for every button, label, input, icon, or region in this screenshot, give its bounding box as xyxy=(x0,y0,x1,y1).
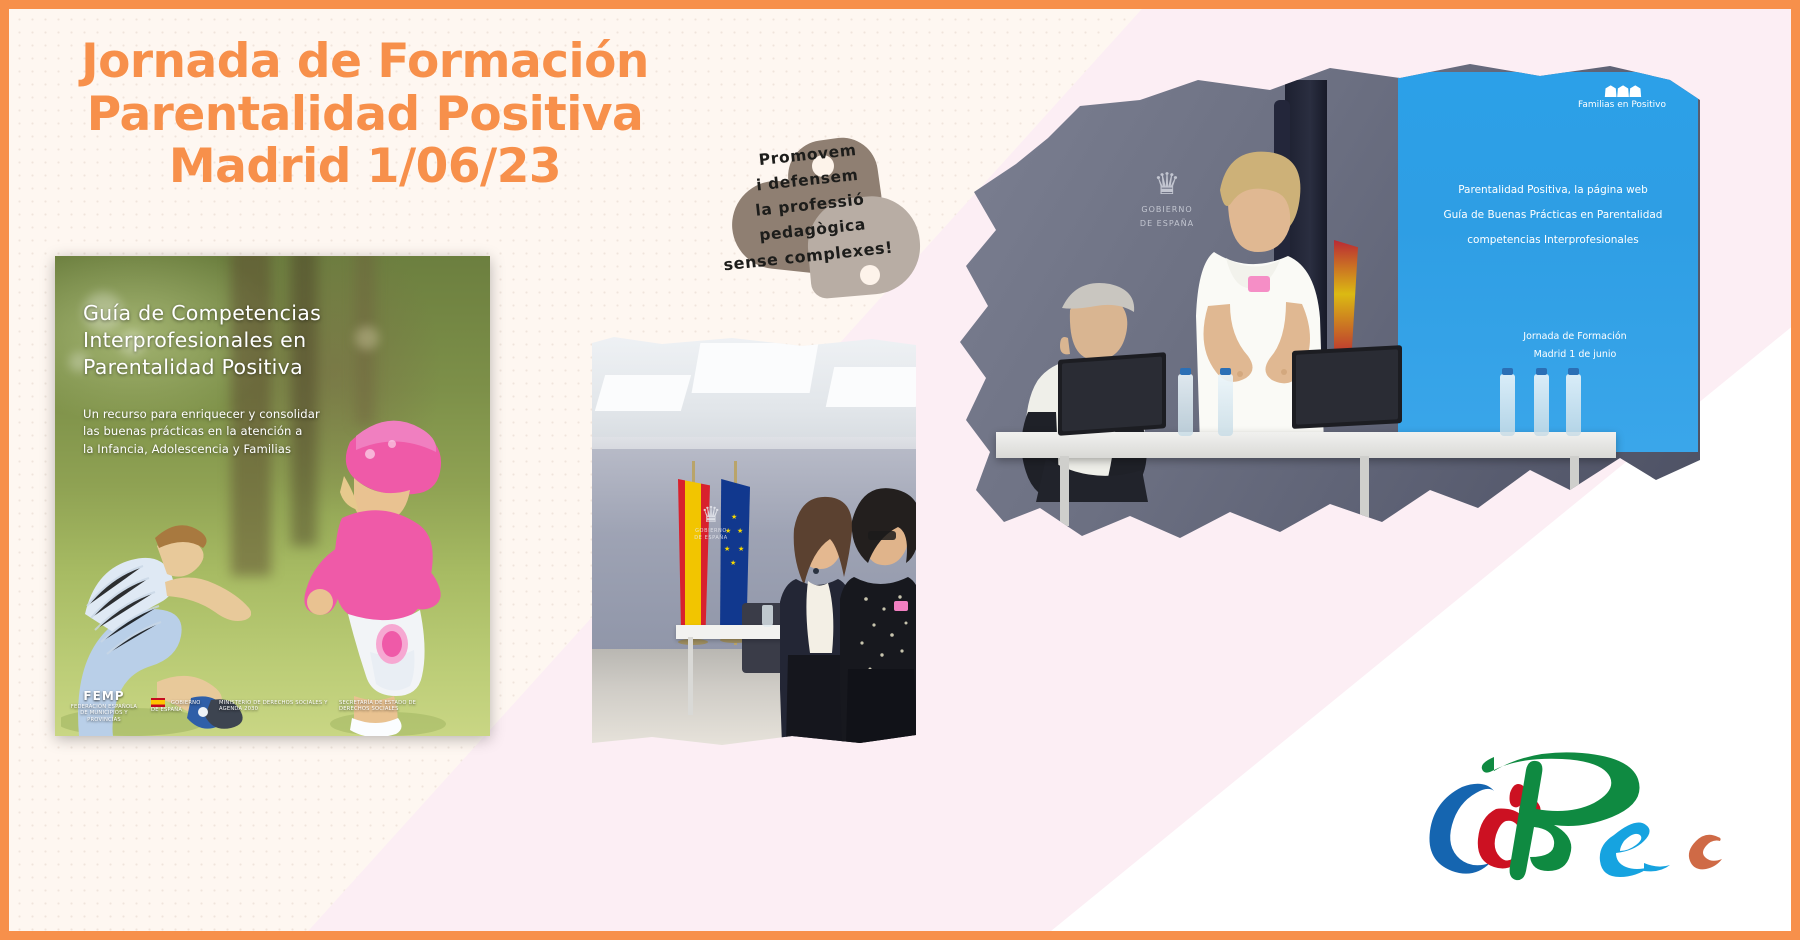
ministerio-derechos-sociales-logo: MINISTERIO DE DERECHOS SOCIALES Y AGENDA… xyxy=(219,700,329,713)
water-bottle-icon xyxy=(1500,374,1515,436)
screen-line-2: Guía de Buenas Prácticas en Parentalidad xyxy=(1408,203,1698,228)
water-bottle-icon xyxy=(1566,374,1581,436)
gobierno-espana-logo: GOBIERNO DE ESPAÑA xyxy=(151,698,209,714)
book-title-line-3: Parentalidad Positiva xyxy=(83,354,383,381)
copec-letter-e xyxy=(1600,823,1650,877)
headline-line-2: Parentalidad Positiva xyxy=(55,89,675,142)
water-glass-icon xyxy=(762,605,773,627)
screen-line-3: competencias Interprofesionales xyxy=(1408,228,1698,253)
page-title: Jornada de Formación Parentalidad Positi… xyxy=(55,36,675,194)
secretaria-estado-logo: SECRETARÍA DE ESTADO DE DERECHOS SOCIALE… xyxy=(339,700,435,713)
water-bottle-icon xyxy=(1534,374,1549,436)
book-subtitle-line-1: Un recurso para enriquecer y consolidar xyxy=(83,406,373,423)
photo-two-speakers: ★ ★ ★ ★ ★ ★ ♛ GOBIERNO DE ESPAÑA ♛ GOBIE… xyxy=(592,337,916,745)
screen-bullet-list: Parentalidad Positiva, la página web Guí… xyxy=(1408,178,1698,254)
spain-flag-icon xyxy=(151,698,165,707)
crest-caption-line-2: DE ESPAÑA xyxy=(688,536,734,541)
flag-base-icon xyxy=(678,639,708,645)
laptop-icon xyxy=(1292,345,1402,429)
ceiling-light-panel xyxy=(826,367,916,407)
water-bottle-icon xyxy=(1218,374,1233,436)
gobierno-crest-icon: ♛ GOBIERNO DE ESPAÑA xyxy=(688,505,734,541)
book-cover-logo-band: FEMP FEDERACIÓN ESPAÑOLA DE MUNICIPIOS Y… xyxy=(55,676,490,736)
book-subtitle-line-2: las buenas prácticas en la atención a xyxy=(83,423,373,440)
book-title: Guía de Competencias Interprofesionales … xyxy=(83,300,383,381)
table-leg xyxy=(1060,456,1069,526)
slogan-blob-hole-bottom-icon xyxy=(860,265,880,285)
slogan-badge: Promovem i defensem la professió pedagòg… xyxy=(680,135,940,295)
crest-caption-line-1: GOBIERNO xyxy=(688,529,734,534)
headline-line-1: Jornada de Formación xyxy=(55,36,675,89)
book-subtitle-line-3: la Infancia, Adolescencia y Familias xyxy=(83,441,373,458)
book-subtitle: Un recurso para enriquecer y consolidar … xyxy=(83,406,373,458)
screen-line-1: Parentalidad Positiva, la página web xyxy=(1408,178,1698,203)
water-bottle-icon xyxy=(1178,374,1193,436)
secretaria-caption: SECRETARÍA DE ESTADO DE DERECHOS SOCIALE… xyxy=(339,700,416,713)
ceiling-light-panel xyxy=(692,343,819,393)
family-figures-icon: ☗☗☗ xyxy=(1576,84,1668,100)
laptop-icon xyxy=(1058,352,1166,436)
copec-logo-mark xyxy=(1418,735,1758,885)
conference-table xyxy=(996,432,1616,458)
book-cover-image: Guía de Competencias Interprofesionales … xyxy=(55,256,490,736)
copec-letter-c xyxy=(1689,835,1722,870)
book-title-line-1: Guía de Competencias xyxy=(83,300,383,327)
copec-logo[interactable]: CoPec xyxy=(1418,735,1758,885)
screen-logo-text: Familias en Positivo xyxy=(1578,100,1666,110)
slogan-text: Promovem i defensem la professió pedagòg… xyxy=(674,130,946,283)
screen-footer-line-1: Jornada de Formación xyxy=(1450,328,1700,346)
copec-letter-e-tail xyxy=(1644,863,1670,871)
screen-footer: Jornada de Formación Madrid 1 de junio xyxy=(1450,328,1700,364)
familias-en-positivo-logo: ☗☗☗ Familias en Positivo xyxy=(1576,84,1668,110)
ministerio-caption: MINISTERIO DE DERECHOS SOCIALES Y AGENDA… xyxy=(219,700,328,713)
femp-logo: FEMP FEDERACIÓN ESPAÑOLA DE MUNICIPIOS Y… xyxy=(67,689,141,724)
ceiling-light-panel xyxy=(595,375,691,411)
poster-canvas: Jornada de Formación Parentalidad Positi… xyxy=(0,0,1800,940)
table-leg xyxy=(688,637,693,715)
femp-logo-mark: FEMP xyxy=(67,689,141,704)
headline-line-3: Madrid 1/06/23 xyxy=(55,141,675,194)
screen-footer-line-2: Madrid 1 de junio xyxy=(1450,346,1700,364)
femp-logo-caption: FEDERACIÓN ESPAÑOLA DE MUNICIPIOS Y PROV… xyxy=(71,704,137,723)
person-right xyxy=(840,473,916,745)
book-title-line-2: Interprofesionales en xyxy=(83,327,383,354)
